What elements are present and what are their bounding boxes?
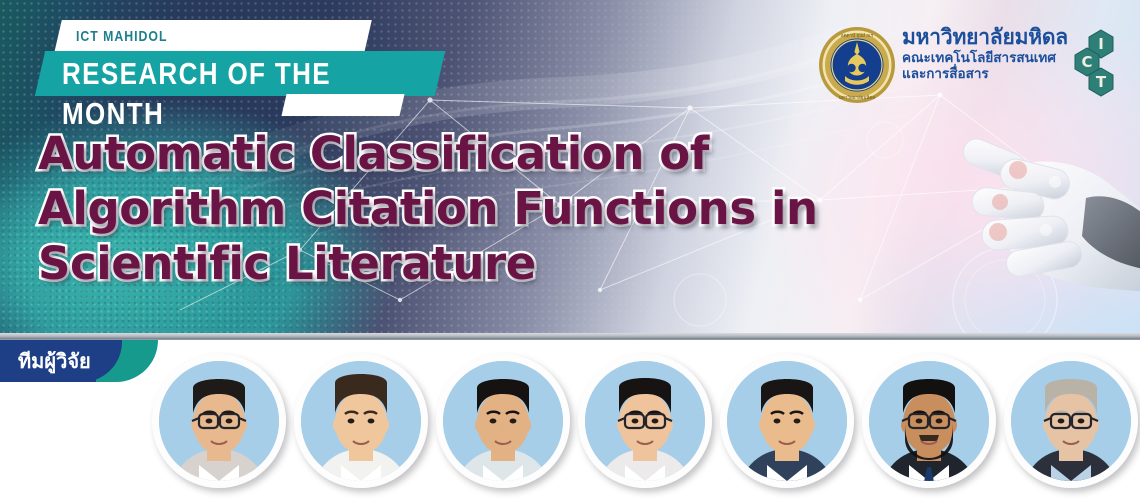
research-of-the-month-banner: ICT MAHIDOL RESEARCH OF THE MONTH (0, 0, 1140, 500)
svg-text:C: C (1081, 53, 1092, 71)
portrait-photo (727, 361, 847, 481)
title-line-3: Scientific Literature (38, 236, 918, 291)
team-member-portrait (1004, 354, 1138, 488)
portrait-photo (585, 361, 705, 481)
ribbon-eyebrow-label: ICT MAHIDOL (76, 24, 322, 50)
svg-text:อตฺตานํ อุปมํ กเร: อตฺตานํ อุปมํ กเร (841, 32, 874, 39)
university-name-th: มหาวิทยาลัยมหิดล (902, 26, 1082, 50)
team-tag-label: ทีมผู้วิจัย (18, 346, 91, 376)
svg-text:T: T (1096, 73, 1107, 91)
faculty-name-line2-th: และการสื่อสาร (902, 66, 1082, 82)
portrait-photo-3 (443, 361, 563, 481)
team-member-portrait (862, 354, 996, 488)
team-member-portrait (436, 354, 570, 488)
ict-hexagon-logo-icon: I C T (1071, 28, 1119, 102)
team-member-portrait (578, 354, 712, 488)
portrait-photo (301, 361, 421, 481)
svg-text:I: I (1098, 35, 1104, 53)
team-member-portrait (294, 354, 428, 488)
ribbon-headline-label: RESEARCH OF THE MONTH (62, 54, 398, 94)
title-line-1: Automatic Classification of (38, 126, 918, 181)
portrait-photo-5 (727, 361, 847, 481)
portrait-photo-6 (869, 361, 989, 481)
portrait-photo-1 (159, 361, 279, 481)
svg-text:มหาวิทยาลัยมหิดล: มหาวิทยาลัยมหิดล (839, 95, 875, 101)
portrait-photo-7 (1011, 361, 1131, 481)
team-portrait-list (152, 354, 1140, 500)
research-of-the-month-ribbon: ICT MAHIDOL RESEARCH OF THE MONTH (40, 20, 440, 110)
university-name-block: มหาวิทยาลัยมหิดล คณะเทคโนโลยีสารสนเทศ แล… (902, 26, 1082, 81)
portrait-photo (1011, 361, 1131, 481)
faculty-name-line1-th: คณะเทคโนโลยีสารสนเทศ (902, 50, 1082, 66)
research-team-strip: ทีมผู้วิจัย (0, 340, 1140, 500)
portrait-photo-2 (301, 361, 421, 481)
portrait-photo-4 (585, 361, 705, 481)
team-member-portrait (152, 354, 286, 488)
university-logo: อตฺตานํ อุปมํ กเร มหาวิทยาลัยมหิดล มหาวิ… (818, 24, 1118, 108)
portrait-photo (443, 361, 563, 481)
portrait-photo (159, 361, 279, 481)
ribbon-bottom-shape (281, 94, 404, 116)
team-member-portrait (720, 354, 854, 488)
title-line-2: Algorithm Citation Functions in (38, 181, 918, 236)
mahidol-seal-icon: อตฺตานํ อุปมํ กเร มหาวิทยาลัยมหิดล (818, 26, 896, 104)
page-title: Automatic Classification of Algorithm Ci… (38, 126, 918, 291)
section-divider (0, 333, 1140, 340)
hero-background: ICT MAHIDOL RESEARCH OF THE MONTH (0, 0, 1140, 335)
portrait-photo (869, 361, 989, 481)
